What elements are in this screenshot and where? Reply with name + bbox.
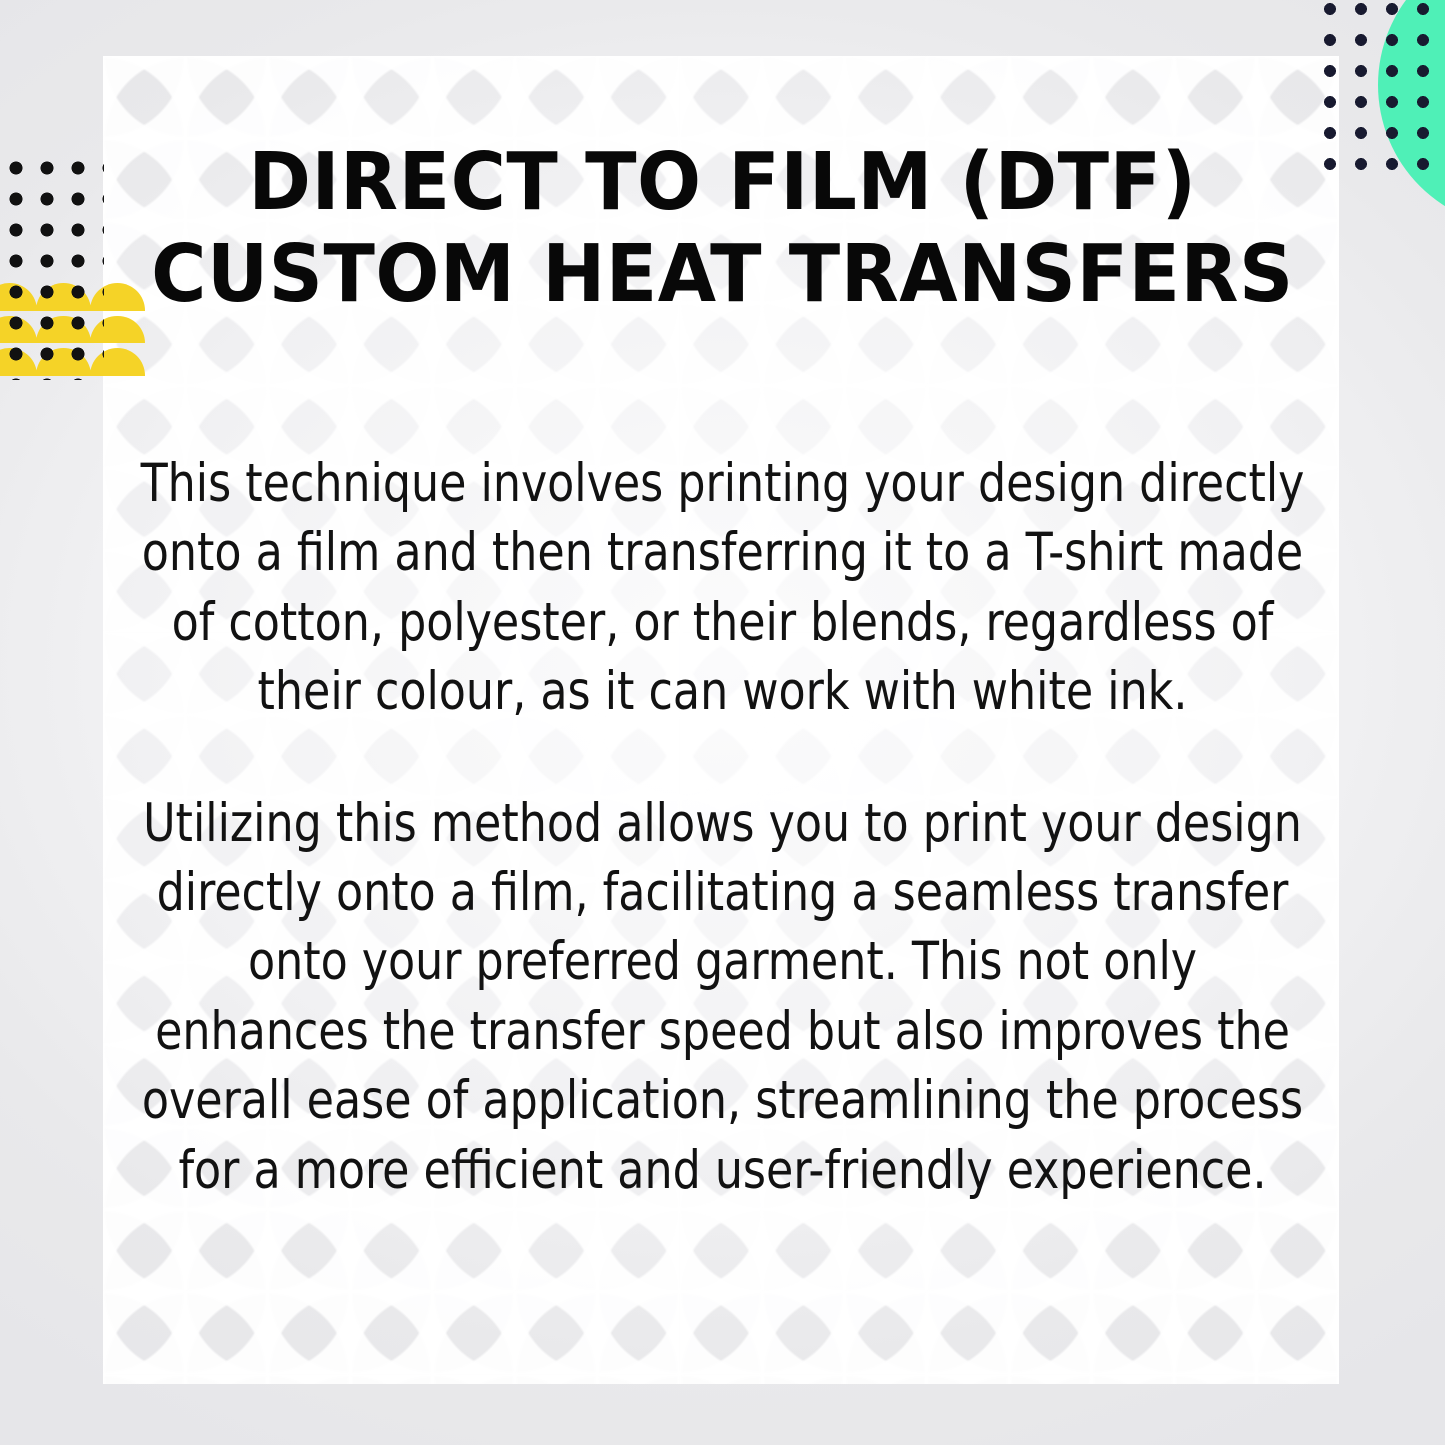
title-line-1: DIRECT TO FILM (DTF) [58, 136, 1386, 228]
body-text-block: This technique involves printing your de… [95, 449, 1350, 1205]
poster-canvas: DIRECT TO FILM (DTF) CUSTOM HEAT TRANSFE… [0, 0, 1445, 1445]
title-line-2: CUSTOM HEAT TRANSFERS [58, 228, 1386, 320]
page-title: DIRECT TO FILM (DTF) CUSTOM HEAT TRANSFE… [58, 136, 1386, 321]
paragraph-2: Utilizing this method allows you to prin… [139, 789, 1306, 1206]
poster-content: DIRECT TO FILM (DTF) CUSTOM HEAT TRANSFE… [0, 0, 1445, 1445]
paragraph-1: This technique involves printing your de… [139, 449, 1306, 727]
